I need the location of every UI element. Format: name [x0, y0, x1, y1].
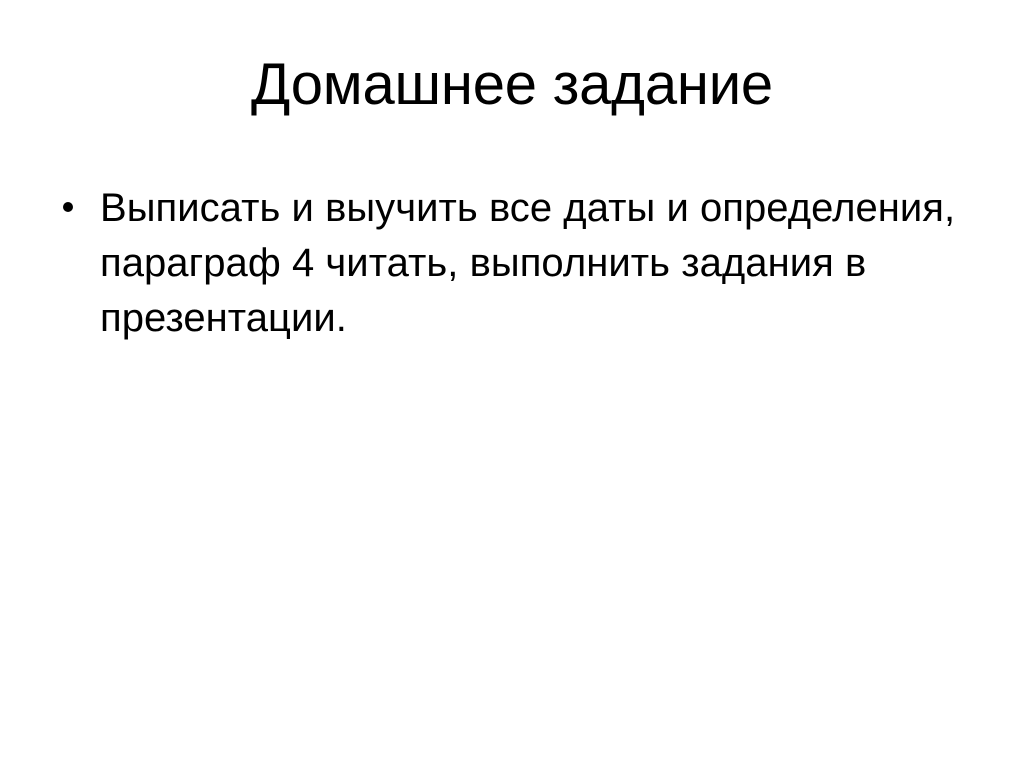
page-title: Домашнее задание: [0, 54, 1024, 115]
list-item: Выписать и выучить все даты и определени…: [56, 181, 984, 346]
slide-body-content: Выписать и выучить все даты и определени…: [56, 181, 984, 346]
list-item-text: Выписать и выучить все даты и определени…: [100, 181, 972, 346]
bullet-point-icon: [63, 181, 103, 236]
presentation-slide: Домашнее задание Выписать и выучить все …: [0, 0, 1024, 767]
